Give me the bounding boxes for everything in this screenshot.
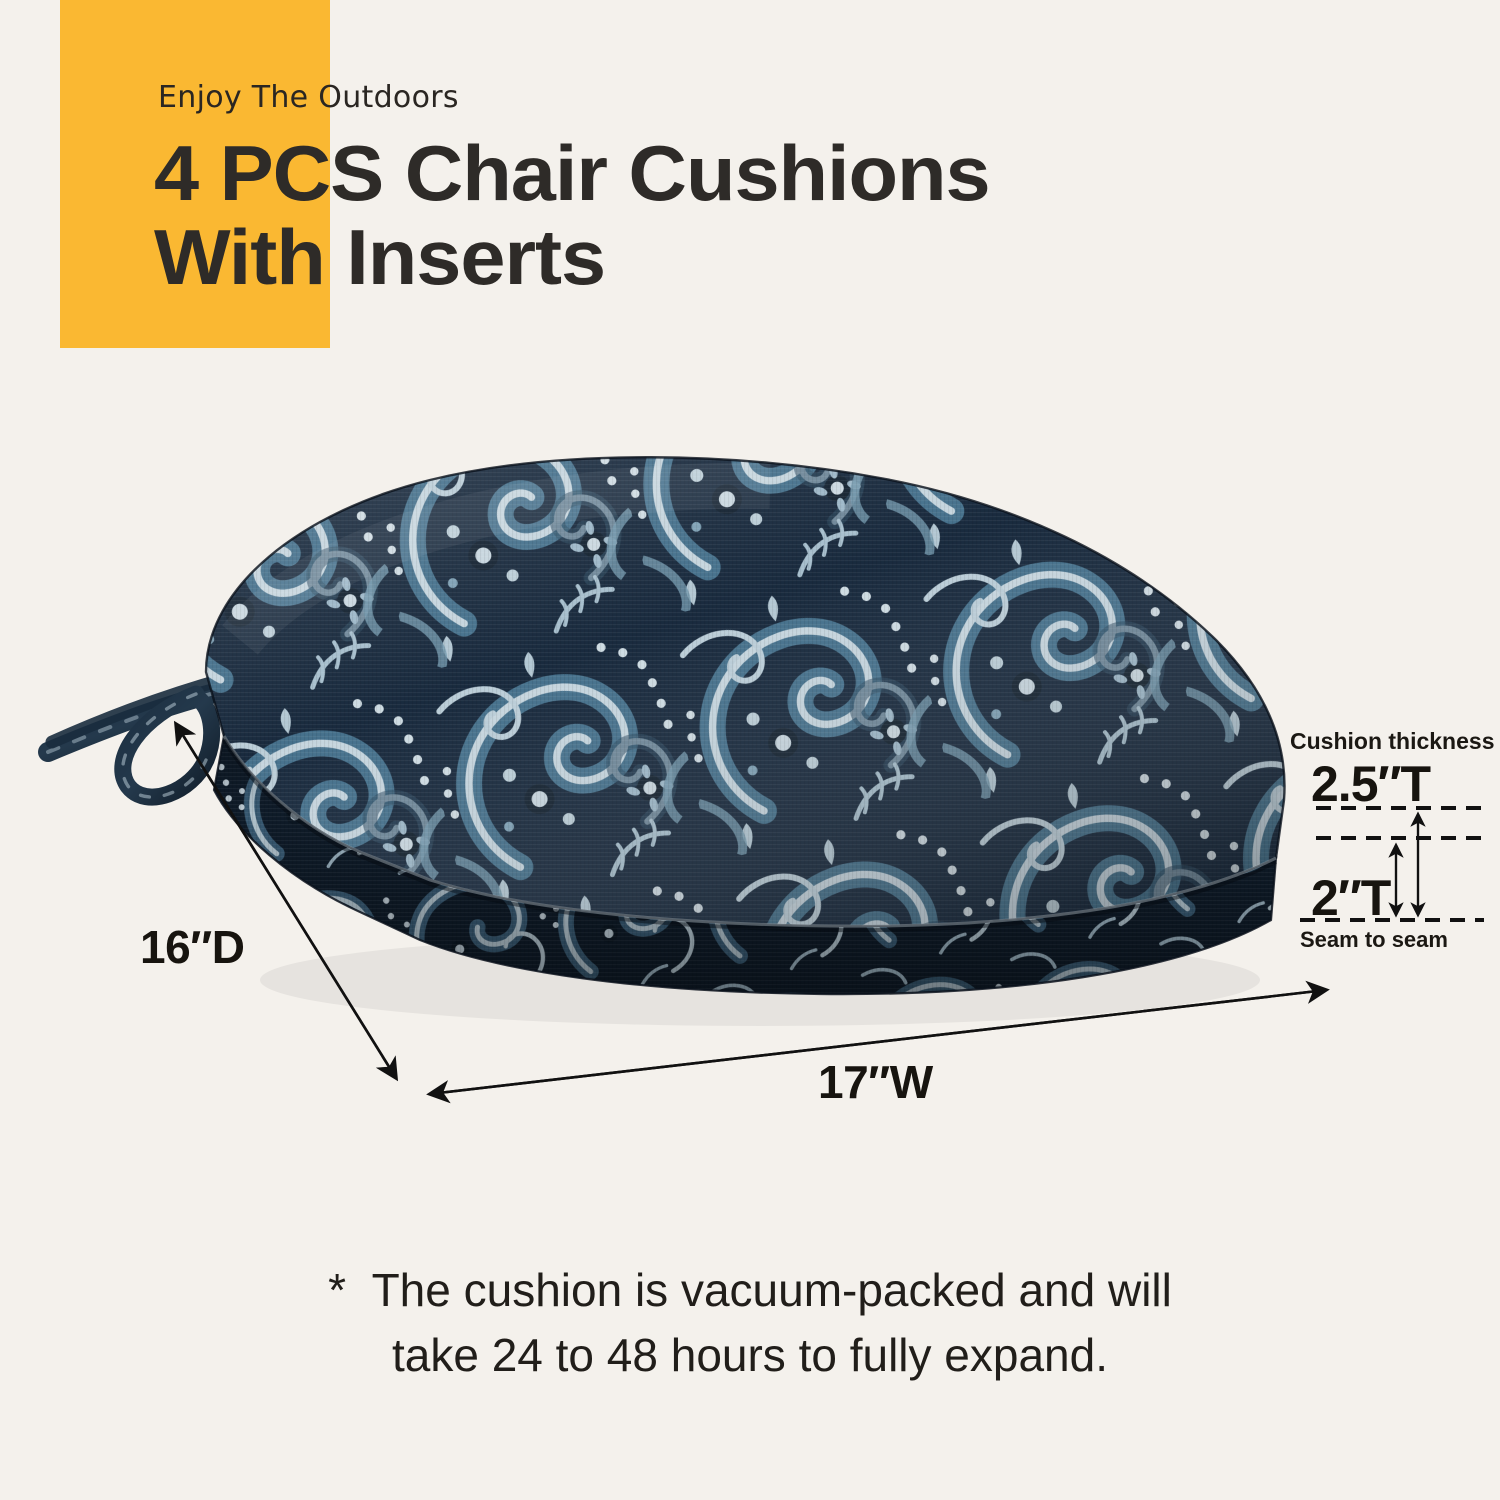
tie-strap — [48, 678, 236, 797]
footnote-marker: * — [328, 1264, 346, 1316]
footnote: * The cushion is vacuum-packed and will … — [0, 1258, 1500, 1389]
seam-thickness-label: 2″T — [1311, 869, 1390, 927]
thickness-caption: Cushion thickness — [1290, 728, 1494, 755]
footnote-line-2: take 24 to 48 hours to fully expand. — [0, 1323, 1500, 1388]
total-thickness-label: 2.5″T — [1311, 755, 1430, 813]
footnote-line-1: The cushion is vacuum-packed and will — [372, 1264, 1172, 1316]
width-label: 17″W — [818, 1055, 933, 1109]
infographic-canvas: Enjoy The Outdoors 4 PCS Chair Cushions … — [0, 0, 1500, 1500]
depth-label: 16″D — [140, 920, 244, 974]
seam-to-seam-caption: Seam to seam — [1300, 927, 1448, 953]
